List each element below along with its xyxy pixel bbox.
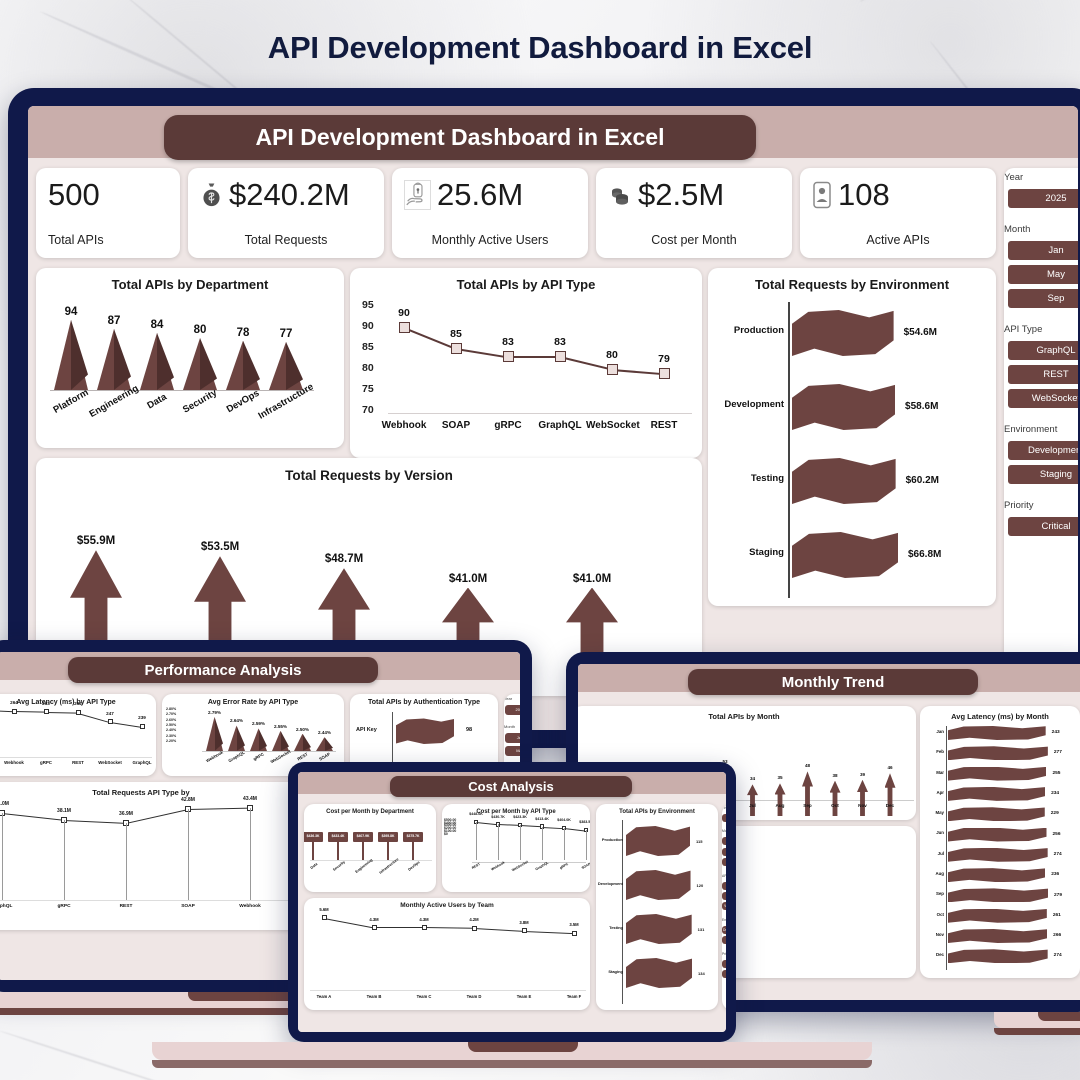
- data-marker: [322, 915, 327, 920]
- value-label: 83: [538, 336, 582, 348]
- category-label: gRPC: [482, 420, 534, 431]
- wave-bar: [792, 532, 898, 578]
- value-label: 243: [1052, 730, 1060, 735]
- value-label: 134: [698, 971, 705, 976]
- data-marker: [572, 931, 577, 936]
- chart-avg-latency-by-api-type[interactable]: Avg Latency (ms) by API Type 266SOAP264W…: [0, 694, 156, 776]
- wave-bar: [792, 458, 896, 504]
- category-label: Production: [710, 326, 784, 336]
- drop-line: [250, 808, 251, 900]
- bar: [885, 773, 896, 816]
- filter-option[interactable]: Development: [722, 926, 726, 934]
- category-label: Development: [597, 882, 623, 886]
- y-axis: [622, 820, 623, 1004]
- category-label: REST: [100, 904, 152, 909]
- category-label: Team E: [498, 994, 550, 999]
- main-dashboard: API Development Dashboard in Excel 500 T…: [28, 106, 1078, 730]
- y-tick-label: 75: [362, 383, 374, 395]
- y-tick-label: 2.50%: [166, 723, 176, 727]
- wave-bar: [948, 909, 1047, 923]
- value-label: $66.8M: [908, 549, 941, 560]
- category-label: gRPC: [38, 904, 90, 909]
- line-segment: [524, 931, 574, 934]
- category-label: Dec: [873, 803, 908, 808]
- bar-side: [286, 342, 303, 390]
- category-label: Staging: [710, 548, 784, 558]
- category-label: Jun: [922, 831, 944, 836]
- wave-bar: [948, 726, 1046, 740]
- chart-title: Total APIs by Authentication Type: [350, 699, 498, 706]
- category-label: Development: [710, 400, 784, 410]
- wave-bar: [792, 384, 895, 430]
- data-marker: [555, 351, 566, 362]
- filter-header: Environment: [1004, 424, 1057, 435]
- line-segment: [542, 827, 564, 829]
- value-label: 239: [120, 715, 156, 720]
- y-tick-label: 90: [362, 320, 374, 332]
- kpi-value: $240.2M: [229, 179, 350, 210]
- y-tick-label: 2.60%: [166, 718, 176, 722]
- value-label: 41.0M: [0, 801, 24, 807]
- kpi-card-total-apis[interactable]: 500 Total APIs: [36, 168, 180, 258]
- filter-option[interactable]: Staging: [722, 936, 726, 944]
- filter-header: Year: [504, 696, 512, 701]
- x-axis: [0, 757, 152, 758]
- line-segment: [508, 356, 560, 358]
- cost-analysis-device: Cost Analysis Cost per Month by Departme…: [288, 762, 736, 1080]
- line-segment: [374, 927, 424, 928]
- category-label: API Key: [356, 727, 377, 733]
- performance-dashboard-title: Performance Analysis: [68, 657, 378, 683]
- filter-option[interactable]: REST: [1008, 365, 1078, 384]
- wave-bar: [948, 787, 1045, 801]
- kpi-value-row: $2.5M: [608, 179, 780, 210]
- chart-title: Avg Latency (ms) by Month: [920, 712, 1080, 721]
- data-marker: [108, 719, 113, 724]
- bar: [857, 780, 868, 816]
- chart-title: Total Requests by Version: [36, 468, 702, 483]
- filter-option[interactable]: WebSocket: [1008, 389, 1078, 408]
- drop-line: [64, 820, 65, 900]
- value-label: 229: [1051, 811, 1059, 816]
- filter-rail[interactable]: Year2025MonthJanMaySepAPI TypeGraphQLRES…: [722, 804, 726, 1010]
- y-tick-label: 2.20%: [166, 739, 176, 743]
- filter-option[interactable]: Critical: [722, 960, 726, 968]
- value-label: 98: [466, 727, 472, 733]
- filter-option[interactable]: Sep: [722, 858, 726, 866]
- line-segment: [564, 828, 586, 831]
- chart-cost-per-month-by-department[interactable]: Cost per Month by Department $436.3KData…: [304, 804, 436, 892]
- line-segment: [188, 808, 250, 810]
- drop-line: [564, 828, 565, 860]
- wave-bar: [948, 929, 1047, 943]
- kpi-value-row: $240.2M: [200, 179, 372, 210]
- wave-bar: [948, 746, 1048, 760]
- kpi-card-total-requests[interactable]: $240.2M Total Requests: [188, 168, 384, 258]
- filter-header: Year: [1004, 172, 1023, 183]
- kpi-value: 25.6M: [437, 179, 523, 210]
- y-tick-label: 70: [362, 404, 374, 416]
- wave-bar: [948, 949, 1048, 963]
- category-label: REST: [638, 420, 690, 431]
- y-axis: [788, 302, 790, 598]
- category-label: Testing: [597, 926, 623, 930]
- value-label: 83: [486, 336, 530, 348]
- value-label: 79: [642, 353, 686, 365]
- value-label: $41.0M: [550, 573, 634, 585]
- x-axis: [0, 900, 302, 901]
- bar-side: [259, 728, 268, 751]
- value-label: 38.1M: [42, 808, 86, 814]
- bar: [830, 781, 841, 816]
- value-label: 4.3M: [352, 917, 396, 922]
- category-label: SOAP: [430, 420, 482, 431]
- value-label: 39: [841, 772, 884, 777]
- category-label: May: [922, 811, 944, 816]
- bar: [183, 338, 217, 390]
- value-label: 131: [698, 927, 705, 932]
- data-marker: [76, 710, 81, 715]
- y-tick-label: 95: [362, 299, 374, 311]
- data-marker: [522, 928, 527, 933]
- y-tick-label: 80: [362, 362, 374, 374]
- chart-apis-by-api-type[interactable]: Total APIs by API Type 90Webhook85SOAP83…: [350, 268, 702, 458]
- value-label: 120: [697, 883, 704, 888]
- category-label: Team A: [304, 994, 350, 999]
- category-label: Aug: [922, 872, 944, 877]
- monthly-trend-title: Monthly Trend: [688, 669, 978, 695]
- filter-header: Month: [722, 829, 726, 833]
- id-card-icon: [812, 181, 832, 209]
- filter-option[interactable]: High: [722, 970, 726, 978]
- category-label: Nov: [922, 933, 944, 938]
- category-label: Webhook: [378, 420, 430, 431]
- value-label: 261: [1053, 913, 1061, 918]
- kpi-value: 108: [838, 179, 890, 210]
- money-bag-icon: [200, 182, 223, 208]
- drop-line: [498, 824, 499, 860]
- bar: [294, 734, 311, 751]
- data-marker: [472, 926, 477, 931]
- bar: [269, 342, 303, 390]
- category-label: GraphQL: [0, 904, 28, 909]
- kpi-value-row: 500: [48, 179, 168, 210]
- y-tick-label: 2.70%: [166, 712, 176, 716]
- category-label: Team C: [398, 994, 450, 999]
- bar-side: [243, 341, 260, 390]
- bar: [802, 771, 813, 816]
- kpi-label: Total Requests: [200, 233, 372, 247]
- value-label: 115: [696, 839, 702, 844]
- wave-bar: [948, 888, 1048, 902]
- category-label: Webhook: [224, 904, 276, 909]
- value-label: $41.0M: [426, 573, 510, 585]
- bar-stem: [312, 840, 314, 860]
- wave-bar: [396, 718, 454, 744]
- line-segment: [520, 825, 542, 827]
- wave-bar: [948, 868, 1045, 882]
- laptop-foot: [994, 1028, 1080, 1035]
- kpi-card-cost-per-month[interactable]: $2.5M Cost per Month: [596, 168, 792, 258]
- data-marker: [399, 322, 410, 333]
- x-axis: [310, 990, 586, 991]
- data-marker: [503, 351, 514, 362]
- kpi-value: $2.5M: [638, 179, 724, 210]
- kpi-label: Monthly Active Users: [404, 233, 576, 247]
- laptop-foot: [152, 1060, 872, 1068]
- chart-title: Monthly Active Users by Team: [304, 902, 590, 909]
- kpi-card-monthly-active-users[interactable]: 25.6M Monthly Active Users: [392, 168, 588, 258]
- line-segment: [2, 813, 64, 821]
- filter-option[interactable]: GraphQL: [722, 882, 726, 890]
- wave-bar: [948, 828, 1047, 842]
- bar: [272, 731, 289, 751]
- filter-option[interactable]: May: [505, 746, 520, 756]
- value-label: 36.9M: [104, 811, 148, 817]
- line-segment: [498, 824, 520, 826]
- line-segment: [476, 822, 498, 825]
- filter-option[interactable]: 2025: [722, 814, 726, 822]
- value-label: 43.4M: [228, 796, 272, 802]
- filter-header: Month: [1004, 224, 1030, 235]
- wave-bar: [626, 914, 692, 944]
- filter-option[interactable]: Development: [1008, 441, 1078, 460]
- kpi-value-row: 25.6M: [404, 179, 576, 210]
- filter-header: API Type: [722, 874, 726, 878]
- chart-requests-by-environment[interactable]: Total Requests by Environment Production…: [708, 268, 996, 606]
- category-label: GraphQL: [116, 760, 156, 765]
- value-label: 35: [759, 775, 802, 780]
- chart-title: Avg Error Rate by API Type: [162, 699, 344, 706]
- kpi-value-row: 108: [812, 179, 984, 210]
- bar: [140, 333, 174, 390]
- cost-analysis-screen: Cost Analysis Cost per Month by Departme…: [298, 772, 726, 1032]
- chart-title: Total APIs by API Type: [350, 277, 702, 292]
- drop-line: [476, 822, 477, 860]
- kpi-label: Total APIs: [48, 233, 168, 247]
- value-label: 274: [1054, 953, 1062, 958]
- main-dashboard-screen: API Development Dashboard in Excel 500 T…: [28, 106, 1078, 730]
- filter-option[interactable]: May: [722, 848, 726, 856]
- bar: [228, 725, 245, 751]
- wave-bar: [948, 807, 1045, 821]
- bar-stem: [337, 840, 339, 860]
- category-label: Team D: [448, 994, 500, 999]
- category-label: WebSocket: [586, 420, 638, 431]
- chart-cost-per-month-by-api-type[interactable]: Cost per Month by API Type $448.6KREST$4…: [442, 804, 590, 892]
- drop-line: [188, 809, 189, 900]
- bar-stem: [362, 840, 364, 860]
- bar: [54, 320, 88, 390]
- value-label: $53.5M: [178, 541, 262, 553]
- filter-option[interactable]: REST: [722, 892, 726, 900]
- value-label: 279: [1054, 893, 1062, 898]
- chart-title: Total APIs by Month: [578, 712, 916, 721]
- wave-bar: [948, 767, 1046, 781]
- drop-line: [2, 813, 3, 900]
- kpi-label: Active APIs: [812, 233, 984, 247]
- value-label: 256: [1053, 832, 1061, 837]
- chart-apis-by-department[interactable]: Total APIs by Department 94Platform87Eng…: [36, 268, 344, 448]
- wave-bar: [948, 848, 1048, 862]
- chart-title: Total APIs by Environment: [596, 809, 718, 815]
- chart-requests-api-type-by[interactable]: Total Requests API Type by 41.0MGraphQL3…: [0, 782, 306, 930]
- value-label: 2.44%: [306, 730, 343, 735]
- chart-title: Total APIs by Department: [36, 277, 344, 292]
- value-label: 262: [56, 701, 100, 706]
- value-label: 48: [786, 763, 829, 768]
- category-label: GraphQL: [534, 420, 586, 431]
- filter-option[interactable]: Critical: [1008, 517, 1078, 536]
- filter-option[interactable]: WebSocket: [722, 902, 726, 910]
- cost-dashboard: Cost Analysis Cost per Month by Departme…: [298, 772, 726, 1032]
- value-label: $436.3K: [304, 834, 323, 838]
- value-label: 277: [1054, 750, 1062, 755]
- data-marker: [451, 343, 462, 354]
- filter-header: Month: [504, 724, 515, 729]
- category-label: Team F: [548, 994, 590, 999]
- value-label: 234: [1051, 791, 1059, 796]
- data-marker: [607, 364, 618, 375]
- page-title: API Development Dashboard in Excel: [0, 30, 1080, 66]
- category-label: Production: [597, 838, 623, 842]
- category-label: Staging: [597, 970, 623, 974]
- chart-title: Total Requests by Environment: [708, 277, 996, 292]
- filter-option[interactable]: May: [1008, 265, 1078, 284]
- value-label: 46: [869, 765, 912, 770]
- filter-header: API Type: [1004, 324, 1042, 335]
- filter-option[interactable]: Jan: [505, 733, 520, 743]
- kpi-value: 500: [48, 179, 100, 210]
- data-marker: [12, 709, 17, 714]
- y-tick-label: 2.80%: [166, 707, 176, 711]
- category-label: Apr: [922, 791, 944, 796]
- value-label: 77: [259, 328, 313, 340]
- x-axis: [388, 413, 692, 414]
- kpi-label: Cost per Month: [608, 233, 780, 247]
- category-label: Jan: [922, 730, 944, 735]
- category-label: Sep: [922, 892, 944, 897]
- value-label: $60.2M: [906, 475, 939, 486]
- data-marker: [659, 368, 670, 379]
- y-tick-label: 2.40%: [166, 728, 176, 732]
- value-label: 266: [1053, 933, 1061, 938]
- value-label: 2.79%: [196, 710, 233, 715]
- value-label: 42.8M: [166, 797, 210, 803]
- value-label: 4.3M: [402, 917, 446, 922]
- y-axis: [946, 726, 947, 970]
- filter-header: Year: [722, 806, 726, 810]
- bar-stem: [412, 840, 414, 860]
- drop-line: [586, 830, 587, 860]
- bar: [97, 329, 131, 390]
- value-label: 255: [1052, 771, 1060, 776]
- cost-dashboard-title: Cost Analysis: [390, 776, 632, 797]
- filter-option[interactable]: GraphQL: [1008, 341, 1078, 360]
- filter-header: Priority: [1004, 500, 1034, 511]
- wave-bar: [626, 826, 690, 856]
- coins-icon: [608, 183, 632, 207]
- line-segment: [64, 820, 126, 824]
- filter-option[interactable]: Jan: [722, 837, 726, 845]
- filter-option[interactable]: Sep: [1008, 289, 1078, 308]
- chart-monthly-active-users-by-team[interactable]: Monthly Active Users by Team 5.6MTeam A4…: [304, 898, 590, 1010]
- y-tick-label: $0: [444, 832, 448, 836]
- value-label: 4.2M: [452, 917, 496, 922]
- value-label: $407.9K: [353, 834, 373, 838]
- value-label: $383.5K: [564, 820, 590, 824]
- category-label: Dec: [922, 953, 944, 958]
- category-label: SOAP: [162, 904, 214, 909]
- hand-money-icon: [404, 180, 431, 210]
- data-marker: [422, 925, 427, 930]
- value-label: 85: [434, 328, 478, 340]
- laptop-notch: [1038, 1012, 1080, 1021]
- chart-apis-by-environment[interactable]: Total APIs by Environment Production115D…: [596, 804, 718, 1010]
- bar-stem: [387, 840, 389, 860]
- bar: [250, 728, 267, 751]
- y-tick-label: 2.30%: [166, 734, 176, 738]
- filter-option[interactable]: Jan: [1008, 241, 1078, 260]
- kpi-card-active-apis[interactable]: 108 Active APIs: [800, 168, 996, 258]
- category-label: Feb: [922, 750, 944, 755]
- value-label: $48.7M: [302, 553, 386, 565]
- y-tick-label: 85: [362, 341, 374, 353]
- value-label: 274: [1054, 852, 1062, 857]
- chart-title: Cost per Month by Department: [304, 809, 436, 815]
- category-label: Jul: [922, 852, 944, 857]
- value-label: 3.5M: [552, 922, 590, 927]
- value-label: $55.9M: [54, 535, 138, 547]
- filter-header: Priority: [722, 952, 726, 956]
- value-label: $395.8K: [378, 834, 398, 838]
- data-marker: [140, 724, 145, 729]
- value-label: 90: [382, 307, 426, 319]
- category-label: Team B: [348, 994, 400, 999]
- data-marker: [44, 709, 49, 714]
- line-segment: [14, 711, 46, 713]
- line-segment: [456, 348, 508, 358]
- laptop-notch: [188, 992, 298, 1001]
- filter-rail[interactable]: Year2025MonthJanMaySepAPI TypeGraphQLRES…: [1004, 168, 1078, 708]
- value-label: 80: [590, 349, 634, 361]
- filter-option[interactable]: 2025: [1008, 189, 1078, 208]
- chart-avg-latency-by-month[interactable]: Avg Latency (ms) by Month Jan243Feb277Ma…: [920, 706, 1080, 978]
- category-label: Oct: [922, 913, 944, 918]
- line-segment: [424, 927, 474, 929]
- filter-option[interactable]: Staging: [1008, 465, 1078, 484]
- wave-bar: [626, 958, 692, 988]
- value-label: $54.6M: [904, 327, 937, 338]
- category-label: Mar: [922, 771, 944, 776]
- line-segment: [110, 722, 142, 728]
- category-label: Testing: [710, 474, 784, 484]
- line-segment: [46, 712, 78, 714]
- filter-header: Environment: [722, 918, 726, 922]
- drop-line: [542, 827, 543, 860]
- data-marker: [372, 925, 377, 930]
- value-label: $433.4K: [328, 834, 348, 838]
- wave-bar: [626, 870, 691, 900]
- line-segment: [612, 369, 664, 375]
- filter-option[interactable]: 2025: [505, 705, 520, 715]
- value-label: 5.6M: [304, 907, 346, 912]
- main-dashboard-title: API Development Dashboard in Excel: [164, 115, 756, 160]
- laptop-notch: [468, 1042, 578, 1052]
- value-label: 236: [1051, 872, 1059, 877]
- marble-vein: [859, 0, 1080, 2]
- bar: [226, 341, 260, 390]
